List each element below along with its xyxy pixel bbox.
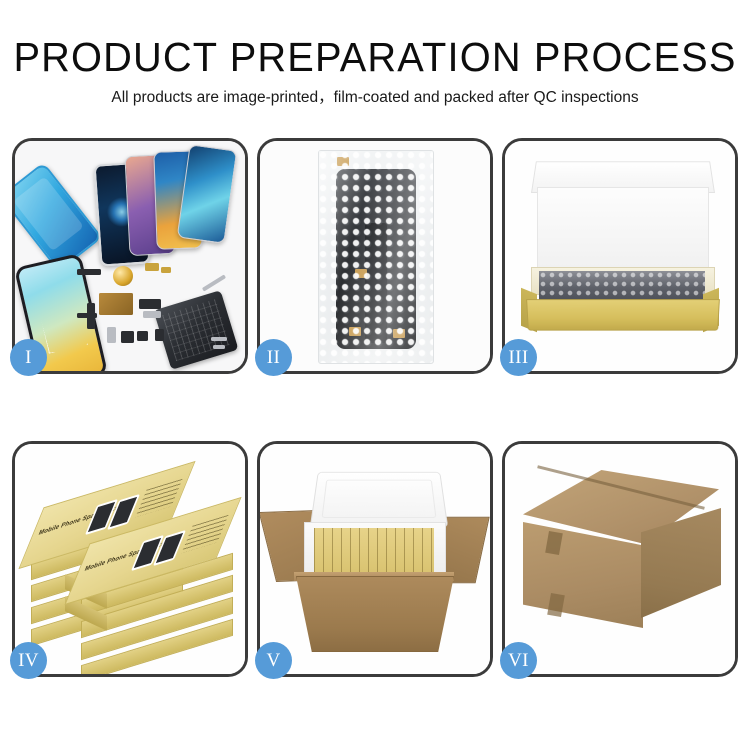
inner-boxes-graphic bbox=[314, 528, 434, 574]
process-step-panel-2: II bbox=[257, 138, 493, 374]
process-step-grid: I II bbox=[12, 138, 738, 677]
gold-component-graphic bbox=[113, 266, 133, 286]
step-4-image: Mobile Phone Spare Parts Mobile Phone Sp… bbox=[15, 444, 245, 674]
box-front-wall-graphic bbox=[526, 299, 720, 331]
process-step-panel-5: V bbox=[257, 441, 493, 677]
page-title: PRODUCT PREPARATION PROCESS bbox=[11, 34, 739, 80]
step-5-image bbox=[260, 444, 490, 674]
step-badge-4: IV bbox=[10, 642, 47, 679]
carton-body-graphic bbox=[296, 576, 454, 652]
step-badge-3: III bbox=[500, 339, 537, 376]
page-subtitle: All products are image-printed，film-coat… bbox=[0, 87, 750, 109]
step-badge-2: II bbox=[255, 339, 292, 376]
box-lid-face-graphic bbox=[537, 187, 709, 275]
header: PRODUCT PREPARATION PROCESS All products… bbox=[0, 34, 750, 109]
product-preparation-infographic: PRODUCT PREPARATION PROCESS All products… bbox=[0, 0, 750, 750]
bubble-bag-graphic bbox=[318, 150, 434, 364]
step-3-image bbox=[505, 141, 735, 371]
process-step-panel-6: VI bbox=[502, 441, 738, 677]
process-step-panel-3: III bbox=[502, 138, 738, 374]
foam-lid-graphic bbox=[310, 472, 449, 528]
box-stack-graphic: Mobile Phone Spare Parts Mobile Phone Sp… bbox=[25, 466, 243, 656]
step-badge-6: VI bbox=[500, 642, 537, 679]
step-1-image bbox=[15, 141, 245, 371]
step-2-image bbox=[260, 141, 490, 371]
step-badge-1: I bbox=[10, 339, 47, 376]
process-step-panel-4: Mobile Phone Spare Parts Mobile Phone Sp… bbox=[12, 441, 248, 677]
step-badge-5: V bbox=[255, 642, 292, 679]
step-6-image bbox=[505, 444, 735, 674]
carton-tape-lower-graphic bbox=[547, 593, 565, 617]
process-step-panel-1: I bbox=[12, 138, 248, 374]
